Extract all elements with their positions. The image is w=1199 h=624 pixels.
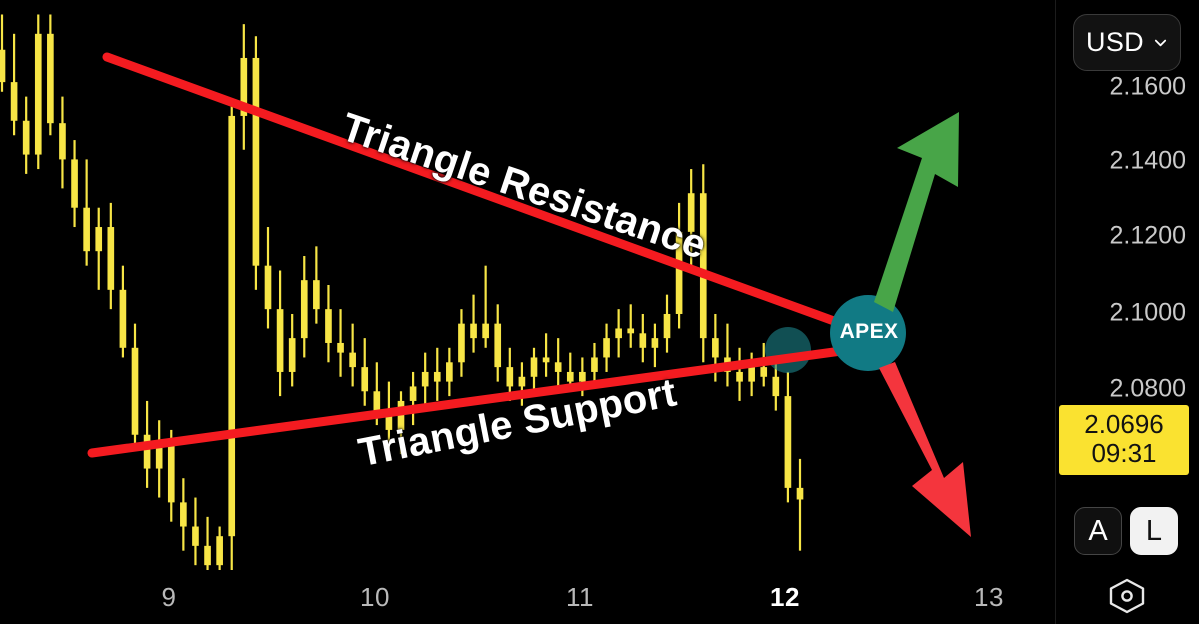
candle bbox=[35, 14, 42, 169]
candle bbox=[95, 208, 102, 290]
candle bbox=[144, 401, 151, 488]
current-price-value: 2.0696 bbox=[1059, 410, 1189, 439]
candle bbox=[156, 420, 163, 497]
time-tick-13: 13 bbox=[974, 582, 1004, 613]
chart-screen: APEX Triangle Resistance Triangle Suppor… bbox=[0, 0, 1199, 624]
candle bbox=[797, 459, 804, 551]
candle bbox=[410, 372, 417, 425]
candle bbox=[664, 295, 671, 353]
candle bbox=[555, 338, 562, 386]
candle bbox=[603, 324, 610, 372]
candle bbox=[712, 314, 719, 382]
candle bbox=[361, 338, 368, 406]
candle bbox=[736, 348, 743, 401]
candle bbox=[349, 324, 356, 387]
candle bbox=[180, 478, 187, 550]
candle bbox=[204, 517, 211, 570]
candle bbox=[434, 348, 441, 401]
time-tick-11: 11 bbox=[566, 582, 594, 613]
price-axis-panel: USD 2.16002.14002.12002.10002.0800 2.069… bbox=[1055, 0, 1199, 624]
candle bbox=[772, 357, 779, 410]
candle bbox=[11, 34, 18, 135]
candle bbox=[289, 314, 296, 386]
candle bbox=[543, 333, 550, 376]
candle bbox=[446, 348, 453, 396]
candle bbox=[482, 266, 489, 348]
candle bbox=[700, 164, 707, 362]
candle bbox=[494, 304, 501, 381]
candle bbox=[83, 159, 90, 265]
candle bbox=[627, 304, 634, 347]
candle bbox=[168, 430, 175, 522]
candle bbox=[59, 97, 66, 189]
candle bbox=[132, 324, 139, 445]
currency-selector[interactable]: USD bbox=[1073, 14, 1181, 71]
price-tick-2.1000: 2.1000 bbox=[1110, 299, 1186, 328]
log-scale-label: L bbox=[1146, 515, 1162, 548]
candle bbox=[0, 14, 5, 91]
candle bbox=[313, 246, 320, 323]
candle bbox=[652, 324, 659, 367]
current-price-time: 09:31 bbox=[1059, 439, 1189, 468]
price-tick-2.1600: 2.1600 bbox=[1110, 73, 1186, 102]
candle bbox=[591, 343, 598, 386]
crosshair-hexagon-icon[interactable] bbox=[1107, 578, 1147, 614]
time-tick-10: 10 bbox=[360, 582, 390, 613]
candle bbox=[47, 14, 54, 135]
candle bbox=[422, 353, 429, 406]
candle bbox=[301, 256, 308, 357]
candle bbox=[192, 498, 199, 566]
candle bbox=[253, 36, 260, 290]
candle bbox=[506, 348, 513, 401]
time-tick-12: 12 bbox=[770, 582, 800, 613]
candle bbox=[120, 266, 127, 358]
candle bbox=[639, 314, 646, 362]
price-tick-2.0800: 2.0800 bbox=[1110, 375, 1186, 404]
candle bbox=[724, 324, 731, 387]
candle bbox=[373, 362, 380, 425]
candle bbox=[216, 527, 223, 570]
candle bbox=[71, 140, 78, 227]
auto-scale-label: A bbox=[1088, 515, 1107, 548]
candle bbox=[337, 309, 344, 377]
candle bbox=[785, 372, 792, 502]
candle bbox=[567, 353, 574, 392]
auto-scale-button[interactable]: A bbox=[1074, 507, 1122, 555]
time-tick-9: 9 bbox=[162, 582, 177, 613]
candles-layer bbox=[0, 0, 1055, 570]
candle bbox=[458, 309, 465, 377]
candle bbox=[470, 295, 477, 353]
candle bbox=[240, 24, 247, 150]
candle bbox=[107, 203, 114, 309]
candle bbox=[615, 309, 622, 357]
candle bbox=[760, 343, 767, 386]
candle bbox=[228, 101, 235, 570]
candle bbox=[277, 271, 284, 397]
price-tick-2.1200: 2.1200 bbox=[1110, 222, 1186, 251]
candle bbox=[23, 97, 30, 174]
candle bbox=[325, 285, 332, 362]
candlestick-plot[interactable] bbox=[0, 0, 1055, 570]
chevron-down-icon bbox=[1153, 35, 1168, 50]
time-axis[interactable]: 910111213 bbox=[0, 570, 1055, 624]
candle bbox=[265, 227, 272, 328]
current-price-badge[interactable]: 2.0696 09:31 bbox=[1059, 405, 1189, 475]
candle bbox=[748, 353, 755, 396]
currency-label: USD bbox=[1086, 27, 1144, 58]
price-tick-2.1400: 2.1400 bbox=[1110, 147, 1186, 176]
candle bbox=[531, 348, 538, 391]
log-scale-button[interactable]: L bbox=[1130, 507, 1178, 555]
